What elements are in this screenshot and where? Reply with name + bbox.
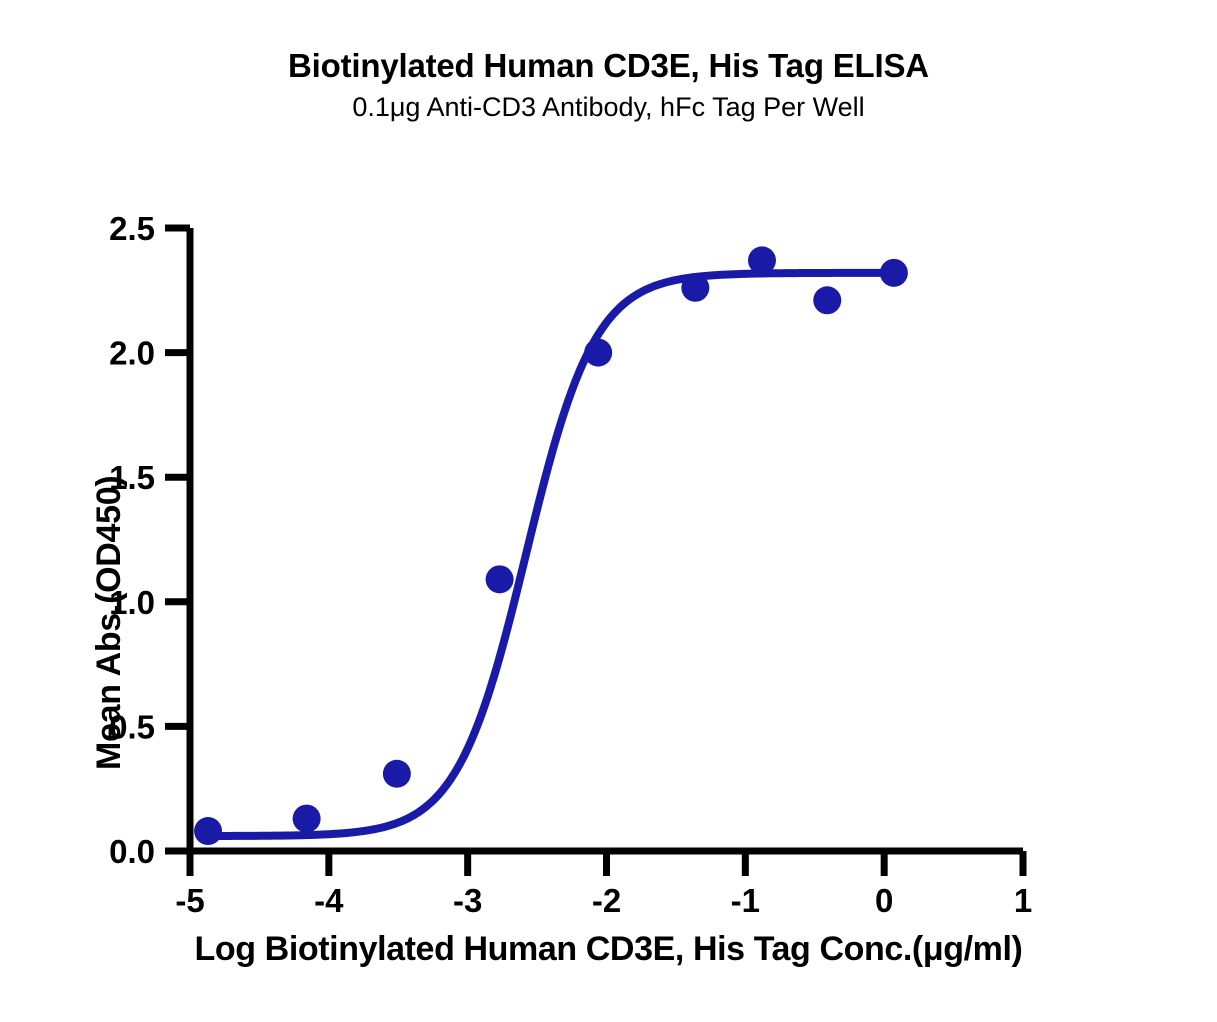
chart-figure: Biotinylated Human CD3E, His Tag ELISA 0… [0,0,1217,1022]
data-point [813,286,841,314]
y-tick-label: 2.5 [109,210,155,247]
data-point [681,274,709,302]
data-point [486,565,514,593]
x-tick-label: -1 [731,882,760,919]
x-tick-label: -3 [453,882,482,919]
fit-curve [208,273,894,836]
data-point [194,817,222,845]
data-point [748,246,776,274]
y-axis-label-wrap: Mean Abs.(OD450) [28,300,98,770]
x-tick-label: 1 [1014,882,1032,919]
x-axis-label: Log Biotinylated Human CD3E, His Tag Con… [0,930,1217,969]
x-tick-label: 0 [875,882,893,919]
data-points [194,246,908,845]
data-point [584,339,612,367]
y-tick-label: 0.0 [109,833,155,870]
data-point [383,760,411,788]
y-axis-label: Mean Abs.(OD450) [90,476,129,770]
data-point [293,805,321,833]
x-tick-label: -2 [592,882,621,919]
y-tick-label: 2.0 [109,335,155,372]
x-tick-label: -4 [314,882,344,919]
data-point [880,259,908,287]
x-axis-ticks: -5-4-3-2-101 [175,851,1032,919]
x-tick-label: -5 [175,882,204,919]
plot-area: 0.00.51.01.52.02.5 -5-4-3-2-101 [0,0,1217,1022]
